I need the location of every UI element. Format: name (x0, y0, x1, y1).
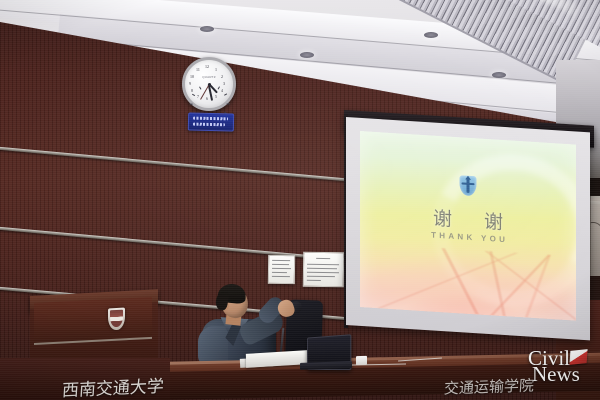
watermark: Civil News (528, 348, 596, 388)
clock-brand-text: QUARTZ (202, 75, 215, 79)
notice-text-line (307, 264, 339, 266)
university-crest (108, 308, 125, 331)
projection-screen-surface: 谢 谢 THANK YOU (360, 131, 576, 321)
ceiling-downlight (300, 52, 314, 58)
panel-bar (590, 196, 591, 278)
notice-text-line (307, 268, 337, 270)
wall-clock: 12 1 2 3 4 5 6 7 8 9 10 11 QUARTZ (182, 57, 236, 111)
notice-text-line (307, 272, 339, 274)
clock-numeral: 2 (221, 74, 223, 79)
venue-calligraphy-left: 西南交通大学 (61, 372, 164, 400)
notice-text-line (272, 276, 290, 278)
clock-numeral: 10 (190, 74, 194, 79)
clock-numeral: 12 (205, 64, 209, 69)
clock-numeral: 7 (197, 94, 199, 99)
clock-numeral: 11 (196, 67, 200, 72)
notice-text-line (307, 280, 321, 282)
notice-text-line (272, 260, 290, 262)
ceiling-downlight (492, 72, 506, 78)
clock-center-pin (208, 83, 211, 86)
slide-geometric-pattern (360, 243, 576, 321)
ceiling-downlight (200, 26, 214, 32)
notice-title-line (316, 258, 330, 260)
sign-text-line-1 (193, 117, 228, 121)
clock-numeral: 5 (215, 94, 217, 99)
clock-face: 12 1 2 3 4 5 6 7 8 9 10 11 QUARTZ (185, 60, 233, 108)
clock-tick (224, 93, 227, 96)
clock-tick (199, 86, 202, 89)
clock-tick (192, 93, 195, 96)
university-shield-logo (460, 175, 477, 196)
notice-text-line (272, 268, 291, 270)
clock-tick (190, 103, 193, 104)
clock-numeral: 3 (223, 81, 225, 86)
notice-text-line (307, 276, 335, 278)
sign-text-line-2 (193, 123, 225, 127)
watermark-line-2: News (532, 364, 580, 384)
ceiling-downlight (424, 32, 438, 38)
clock-tick (218, 86, 221, 89)
lectern-front-face (34, 297, 152, 345)
emergency-exit-sign (188, 113, 234, 132)
notice-text-line (272, 264, 289, 266)
clock-numeral: 9 (189, 81, 191, 86)
clock-numeral: 8 (191, 88, 193, 93)
clock-tick (227, 103, 230, 104)
wall-notice-right (303, 252, 344, 288)
venue-calligraphy-right: 交通运输学院 (443, 374, 534, 398)
clock-numeral: 4 (221, 88, 223, 93)
notice-text-line (272, 272, 287, 274)
shield-cross-vertical (467, 178, 470, 193)
photo-canvas: 12 1 2 3 4 5 6 7 8 9 10 11 QUARTZ (0, 0, 600, 400)
clock-numeral: 1 (215, 67, 217, 72)
wall-notice-left (268, 255, 295, 284)
clock-numeral: 6 (206, 96, 208, 101)
